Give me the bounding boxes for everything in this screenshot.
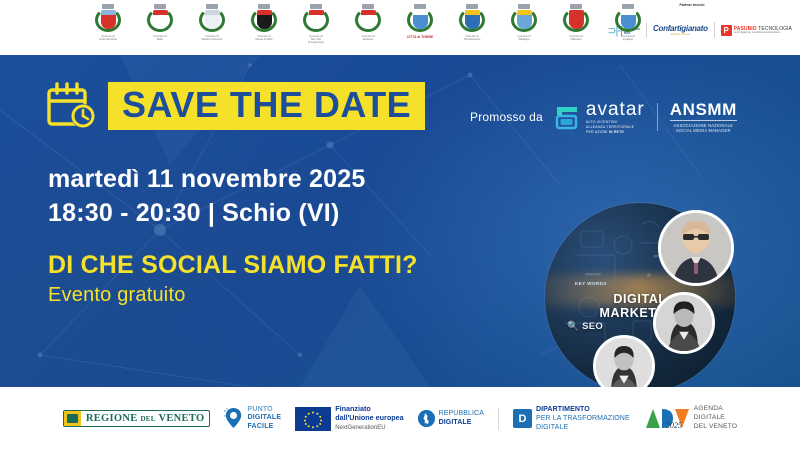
- institutional-footer: REGIONE DEL VENETO PUNTO DIGITALE FACILE: [0, 387, 800, 450]
- municipality-crest: Comune diSan Vitodi Leguzzano: [294, 4, 338, 45]
- save-the-date-text: SAVE THE DATE: [122, 87, 411, 123]
- municipality-crest: Comune diValdagno: [502, 4, 546, 41]
- municipality-crest: CITTÀ di THIENE: [398, 4, 442, 39]
- promoters-block: Promosso da avatar ALTO VICENTINO ALLEAN…: [470, 100, 737, 135]
- svg-text:2025: 2025: [666, 421, 682, 430]
- italy-map-icon: [418, 410, 435, 427]
- punto-digitale-label: PUNTO DIGITALE FACILE: [247, 406, 281, 430]
- municipality-name: Comune diMarano Vicentino: [190, 35, 234, 41]
- dipartimento-label: DIPARTIMENTO PER LA TRASFORMAZIONE DIGIT…: [536, 405, 630, 432]
- municipality-name: Comune diTorrebelvicino: [450, 35, 494, 41]
- ansmm-rule: [670, 120, 737, 121]
- municipality-crest: Comune diSantorso: [346, 4, 390, 41]
- municipality-crest: Comune diMarano Vicentino: [190, 4, 234, 41]
- logo-regione-veneto[interactable]: REGIONE DEL VENETO: [63, 410, 211, 427]
- municipality-crest: Comune diIsola Vicentina: [86, 4, 130, 41]
- logo-avatar[interactable]: avatar ALTO VICENTINO ALLEANZA TERRITORI…: [555, 100, 645, 135]
- partner-divider-2: [714, 22, 715, 38]
- event-poster: Comune diIsola VicentinaComune diMaloCom…: [0, 0, 800, 450]
- save-the-date-badge: SAVE THE DATE: [108, 82, 425, 130]
- promoted-by-label: Promosso da: [470, 110, 543, 124]
- event-title-block: DI CHE SOCIAL SIAMO FATTI? Evento gratui…: [48, 252, 418, 307]
- event-date: martedì 11 novembre 2025: [48, 163, 365, 197]
- municipality-crest: Comune diTorrebelvicino: [450, 4, 494, 41]
- event-title: DI CHE SOCIAL SIAMO FATTI?: [48, 252, 418, 280]
- logo-ansmm[interactable]: ANSMM ASSOCIAZIONE NAZIONALE SOCIAL MEDI…: [670, 101, 737, 134]
- coat-of-arms-icon: [95, 4, 121, 34]
- hero-panel: SAVE THE DATE Promosso da avatar ALTO VI…: [0, 55, 800, 387]
- logo-dipartimento-trasformazione-digitale[interactable]: D DIPARTIMENTO PER LA TRASFORMAZIONE DIG…: [513, 405, 630, 432]
- partner-logo-pasubio[interactable]: P PASUBIO TECNOLOGIA servizi digitali pe…: [721, 25, 792, 36]
- partner-logo-confartigianato[interactable]: Confartigianato Imprese Vicenza: [653, 24, 708, 36]
- coat-of-arms-icon: [147, 4, 173, 34]
- speaker-portrait-2: [653, 292, 715, 354]
- eu-flag-icon: [295, 407, 331, 431]
- coat-of-arms-icon: [355, 4, 381, 34]
- seo-tag-left: 🔍 SEO: [567, 321, 603, 332]
- footer-divider: [498, 408, 499, 430]
- coat-of-arms-icon: [511, 4, 537, 34]
- logo-repubblica-digitale[interactable]: REPUBBLICA DIGITALE: [418, 410, 484, 427]
- veneto-lion-icon: [64, 411, 81, 426]
- municipality-name: Comune diMonte di Malo: [242, 35, 286, 41]
- speakers-collage: DIGITAL MARKETING SEO 🔍 SEO KEY WORDS: [545, 203, 775, 387]
- pasubio-p-icon: P: [721, 25, 732, 36]
- regione-veneto-label: REGIONE DEL VENETO: [81, 413, 210, 424]
- coat-of-arms-icon: [563, 4, 589, 34]
- agenda-digitale-label: AGENDA DIGITALE DEL VENETO: [694, 405, 737, 432]
- avatar-logo-icon: [555, 104, 581, 130]
- municipality-logo-bar: Comune diIsola VicentinaComune diMaloCom…: [0, 0, 800, 55]
- promoter-divider: [657, 103, 658, 131]
- coat-of-arms-icon: [199, 4, 225, 34]
- municipality-crest: Comune diMonte di Malo: [242, 4, 286, 41]
- eu-funding-label: Finanziato dall'Unione europea NextGener…: [335, 404, 403, 433]
- municipality-crest-row: Comune diIsola VicentinaComune diMaloCom…: [86, 4, 650, 45]
- coat-of-arms-icon: [303, 4, 329, 34]
- coat-of-arms-icon: [459, 4, 485, 34]
- pasubio-sublabel: servizi digitali per la pubblica amminis…: [734, 32, 792, 34]
- calendar-clock-icon: [46, 81, 98, 131]
- confartigianato-label: Confartigianato: [653, 24, 708, 33]
- municipality-name: Comune diIsola Vicentina: [86, 35, 130, 41]
- avatar-wordmark: avatar: [586, 100, 645, 119]
- municipality-crest: Comune diMalo: [138, 4, 182, 41]
- municipality-name: CITTÀ di THIENE: [398, 35, 442, 39]
- dipartimento-d-icon: D: [513, 409, 532, 428]
- avatar-tagline: ALTO VICENTINO ALLEANZA TERRITORIALE PER…: [586, 120, 645, 135]
- coat-of-arms-icon: [407, 4, 433, 34]
- municipality-name: Comune diValdagno: [502, 35, 546, 41]
- keywords-tag: KEY WORDS: [575, 281, 607, 286]
- confartigianato-sublabel: Imprese Vicenza: [671, 33, 690, 36]
- event-time-location: 18:30 - 20:30 | Schio (VI): [48, 197, 365, 231]
- coat-of-arms-icon: [251, 4, 277, 34]
- speaker-portrait-1: [658, 210, 734, 286]
- event-free-label: Evento gratuito: [48, 284, 418, 307]
- location-pin-icon: [224, 407, 243, 429]
- municipality-name: Comune diMalo: [138, 35, 182, 41]
- logo-punto-digitale-facile[interactable]: PUNTO DIGITALE FACILE: [224, 406, 281, 430]
- logo-eu-funding[interactable]: Finanziato dall'Unione europea NextGener…: [295, 404, 403, 433]
- repubblica-digitale-label: REPUBBLICA DIGITALE: [439, 410, 484, 427]
- agenda-digitale-icon: 2025: [644, 406, 690, 430]
- municipality-name: Comune diSantorso: [346, 35, 390, 41]
- partner-divider-1: [646, 22, 647, 38]
- ansmm-tagline: ASSOCIAZIONE NAZIONALE SOCIAL MEDIA MANA…: [670, 123, 737, 134]
- save-the-date-row: SAVE THE DATE: [46, 81, 425, 131]
- municipality-name: Comune diSan Vitodi Leguzzano: [294, 35, 338, 45]
- event-datetime-block: martedì 11 novembre 2025 18:30 - 20:30 |…: [48, 163, 365, 231]
- logo-agenda-digitale-veneto[interactable]: 2025 AGENDA DIGITALE DEL VENETO: [644, 405, 737, 432]
- ansmm-wordmark: ANSMM: [670, 101, 737, 118]
